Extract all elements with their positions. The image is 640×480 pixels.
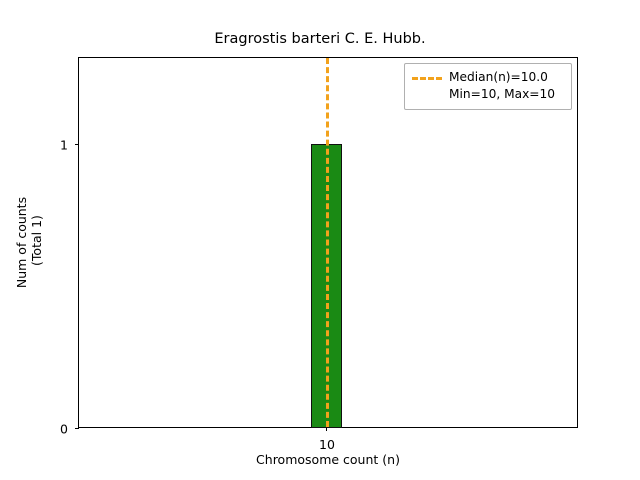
ytick-mark-0: 0 <box>75 428 79 429</box>
plot-area: 0 1 10 <box>78 57 578 428</box>
legend-dashed-line-icon <box>412 77 442 80</box>
ytick-label-1: 1 <box>60 139 68 152</box>
legend-label-median: Median(n)=10.0 Min=10, Max=10 <box>449 69 564 103</box>
x-axis-label: Chromosome count (n) <box>78 453 578 467</box>
xtick-label-10: 10 <box>319 438 335 452</box>
median-line <box>326 58 329 427</box>
legend: Median(n)=10.0 Min=10, Max=10 <box>404 63 572 110</box>
chart-title: Eragrostis barteri C. E. Hubb. <box>0 30 640 48</box>
y-axis-label: Num of counts (Total 1) <box>14 57 40 428</box>
ytick-label-0: 0 <box>60 423 68 436</box>
chart-figure: Eragrostis barteri C. E. Hubb. 0 1 10 Me… <box>0 0 640 480</box>
